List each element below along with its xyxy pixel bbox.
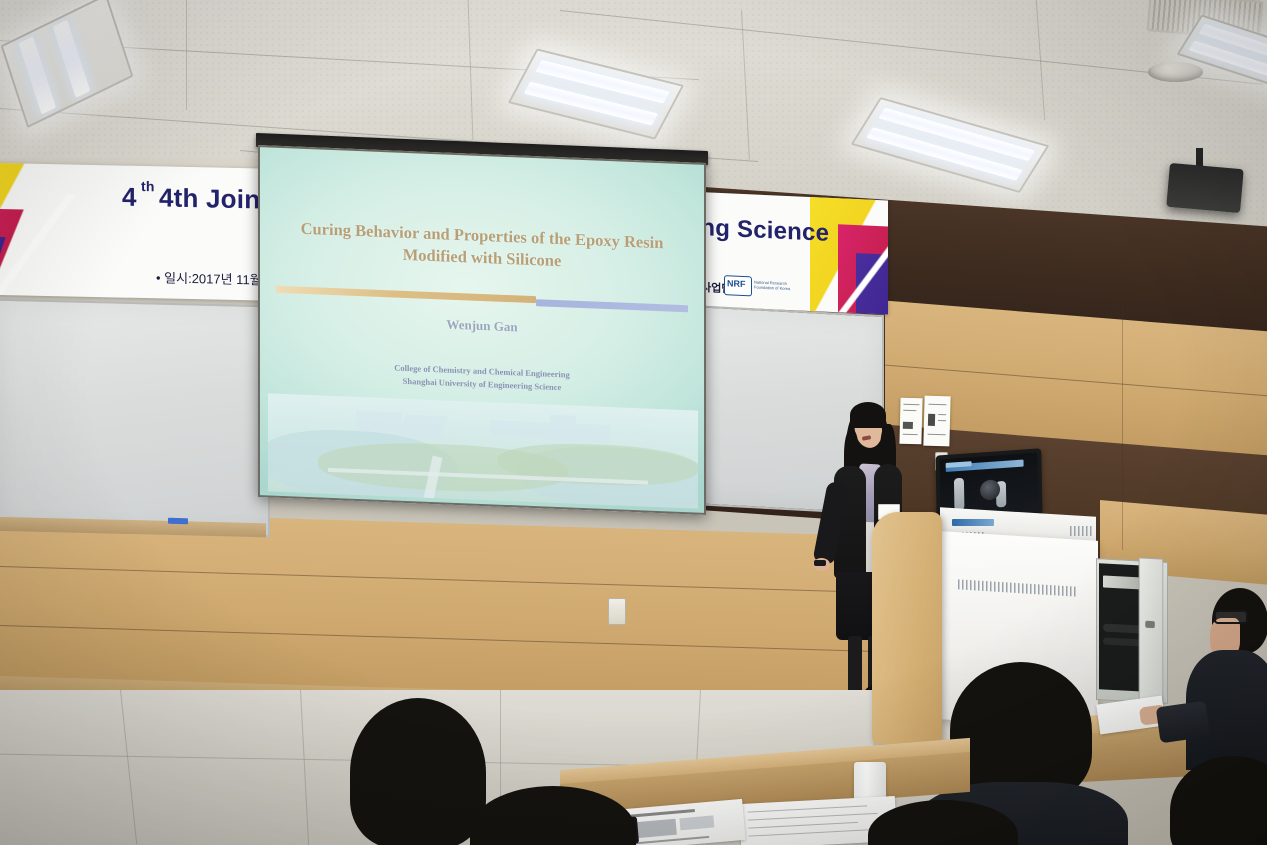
banner-date: • 일시:2017년 11월: [156, 267, 262, 288]
lectern-side-panel: [872, 512, 942, 744]
whiteboard-marker[interactable]: [168, 518, 188, 524]
audience-head: [950, 662, 1092, 800]
event-banner-right: ring Science 성 사업단 NRF National Research…: [688, 191, 888, 314]
audience-member: [868, 800, 1018, 845]
ceiling-projector-icon: [1166, 163, 1244, 213]
rack-device: [1103, 575, 1143, 589]
banner-ordinal: 4: [122, 182, 137, 213]
whiteboard: [0, 299, 270, 538]
nrf-logo-subtext: National Research Foundation of Korea: [754, 279, 804, 292]
ceiling-speaker-icon: [1148, 62, 1203, 82]
audience-member: [470, 786, 640, 845]
audience-member: [350, 698, 490, 845]
nrf-logo: NRF: [724, 275, 752, 296]
presenter-leg: [848, 636, 862, 698]
glasses-icon: [1214, 610, 1248, 624]
document-camera-arm: [954, 478, 965, 511]
banner-title-right: ring Science: [688, 213, 829, 248]
presenter-clicker[interactable]: [814, 560, 826, 566]
presenter-hair-front: [850, 402, 886, 428]
audience-head: [350, 698, 486, 845]
lectern-vent: [1070, 526, 1094, 536]
cabinet-door[interactable]: [1139, 557, 1164, 702]
wall-notice: [923, 396, 950, 447]
banner-ordinal-suffix: th: [141, 178, 155, 194]
ceiling-grid-line: [186, 0, 187, 110]
audience-head: [470, 786, 636, 845]
panel-seam: [1122, 300, 1123, 550]
lectern-brand-label: [952, 519, 994, 526]
audience-member: [1170, 756, 1267, 845]
audience-sleeve: [1156, 701, 1211, 744]
event-banner-left: 4 th 4th Joint Sym • 일시:2017년 11월: [0, 163, 288, 301]
audience-member: [1192, 588, 1267, 768]
wall-outlet[interactable]: [608, 598, 626, 625]
projection-screen: Curing Behavior and Properties of the Ep…: [258, 145, 706, 515]
audience-head: [868, 800, 1018, 845]
audience-head: [1170, 756, 1267, 845]
lecture-hall-photo: 4 th 4th Joint Sym • 일시:2017년 11월 ring S…: [0, 0, 1267, 845]
cabinet-handle[interactable]: [1145, 621, 1155, 628]
